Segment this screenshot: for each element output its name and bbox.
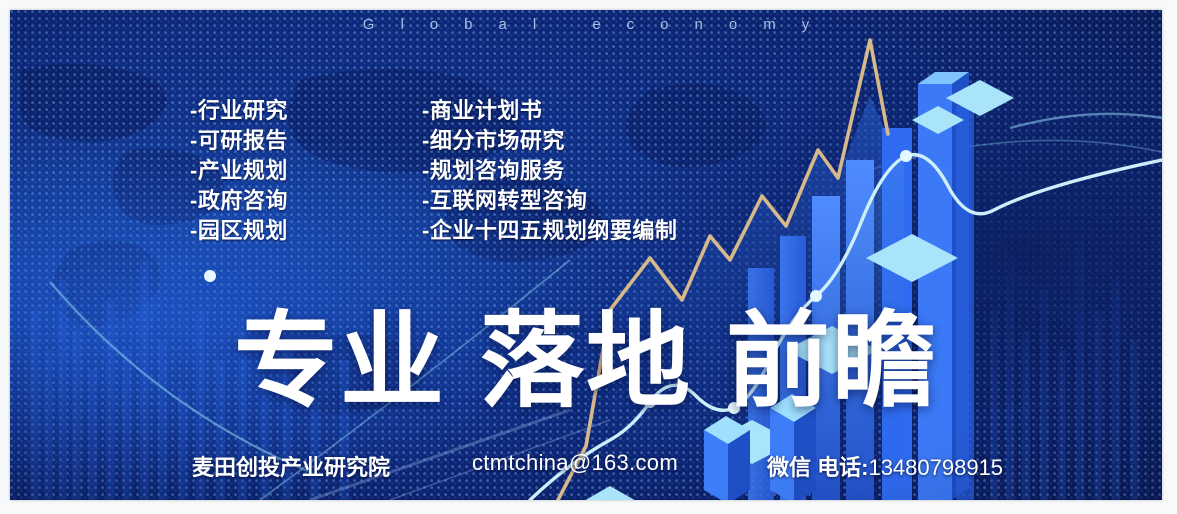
service-item: -规划咨询服务 bbox=[422, 156, 677, 186]
email-address[interactable]: ctmtchina@163.com bbox=[472, 450, 678, 476]
service-item: -商业计划书 bbox=[422, 96, 677, 126]
headline-word-2: 落地 bbox=[480, 304, 692, 420]
service-item: -可研报告 bbox=[190, 126, 288, 156]
contact-label: 微信 电话: bbox=[767, 455, 868, 480]
header-word: Global economy bbox=[10, 16, 1162, 33]
service-item: -企业十四五规划纲要编制 bbox=[422, 216, 677, 246]
organization-name: 麦田创投产业研究院 bbox=[192, 450, 390, 482]
service-item: -行业研究 bbox=[190, 96, 288, 126]
headline: 专业落地前瞻 bbox=[10, 306, 1162, 418]
service-list-left: -行业研究 -可研报告 -产业规划 -政府咨询 -园区规划 bbox=[190, 96, 288, 246]
service-item: -互联网转型咨询 bbox=[422, 186, 677, 216]
service-list-right: -商业计划书 -细分市场研究 -规划咨询服务 -互联网转型咨询 -企业十四五规划… bbox=[422, 96, 677, 246]
headline-word-1: 专业 bbox=[234, 304, 446, 420]
service-item: -产业规划 bbox=[190, 156, 288, 186]
service-item: -细分市场研究 bbox=[422, 126, 677, 156]
vignette-overlay bbox=[10, 10, 1162, 500]
service-item: -园区规划 bbox=[190, 216, 288, 246]
banner-canvas: Global economy -行业研究 -可研报告 -产业规划 -政府咨询 -… bbox=[10, 10, 1162, 500]
contact-phone: 微信 电话:13480798915 bbox=[767, 450, 1003, 482]
headline-word-3: 前瞻 bbox=[726, 304, 938, 420]
service-item: -政府咨询 bbox=[190, 186, 288, 216]
phone-number: 13480798915 bbox=[868, 455, 1003, 480]
